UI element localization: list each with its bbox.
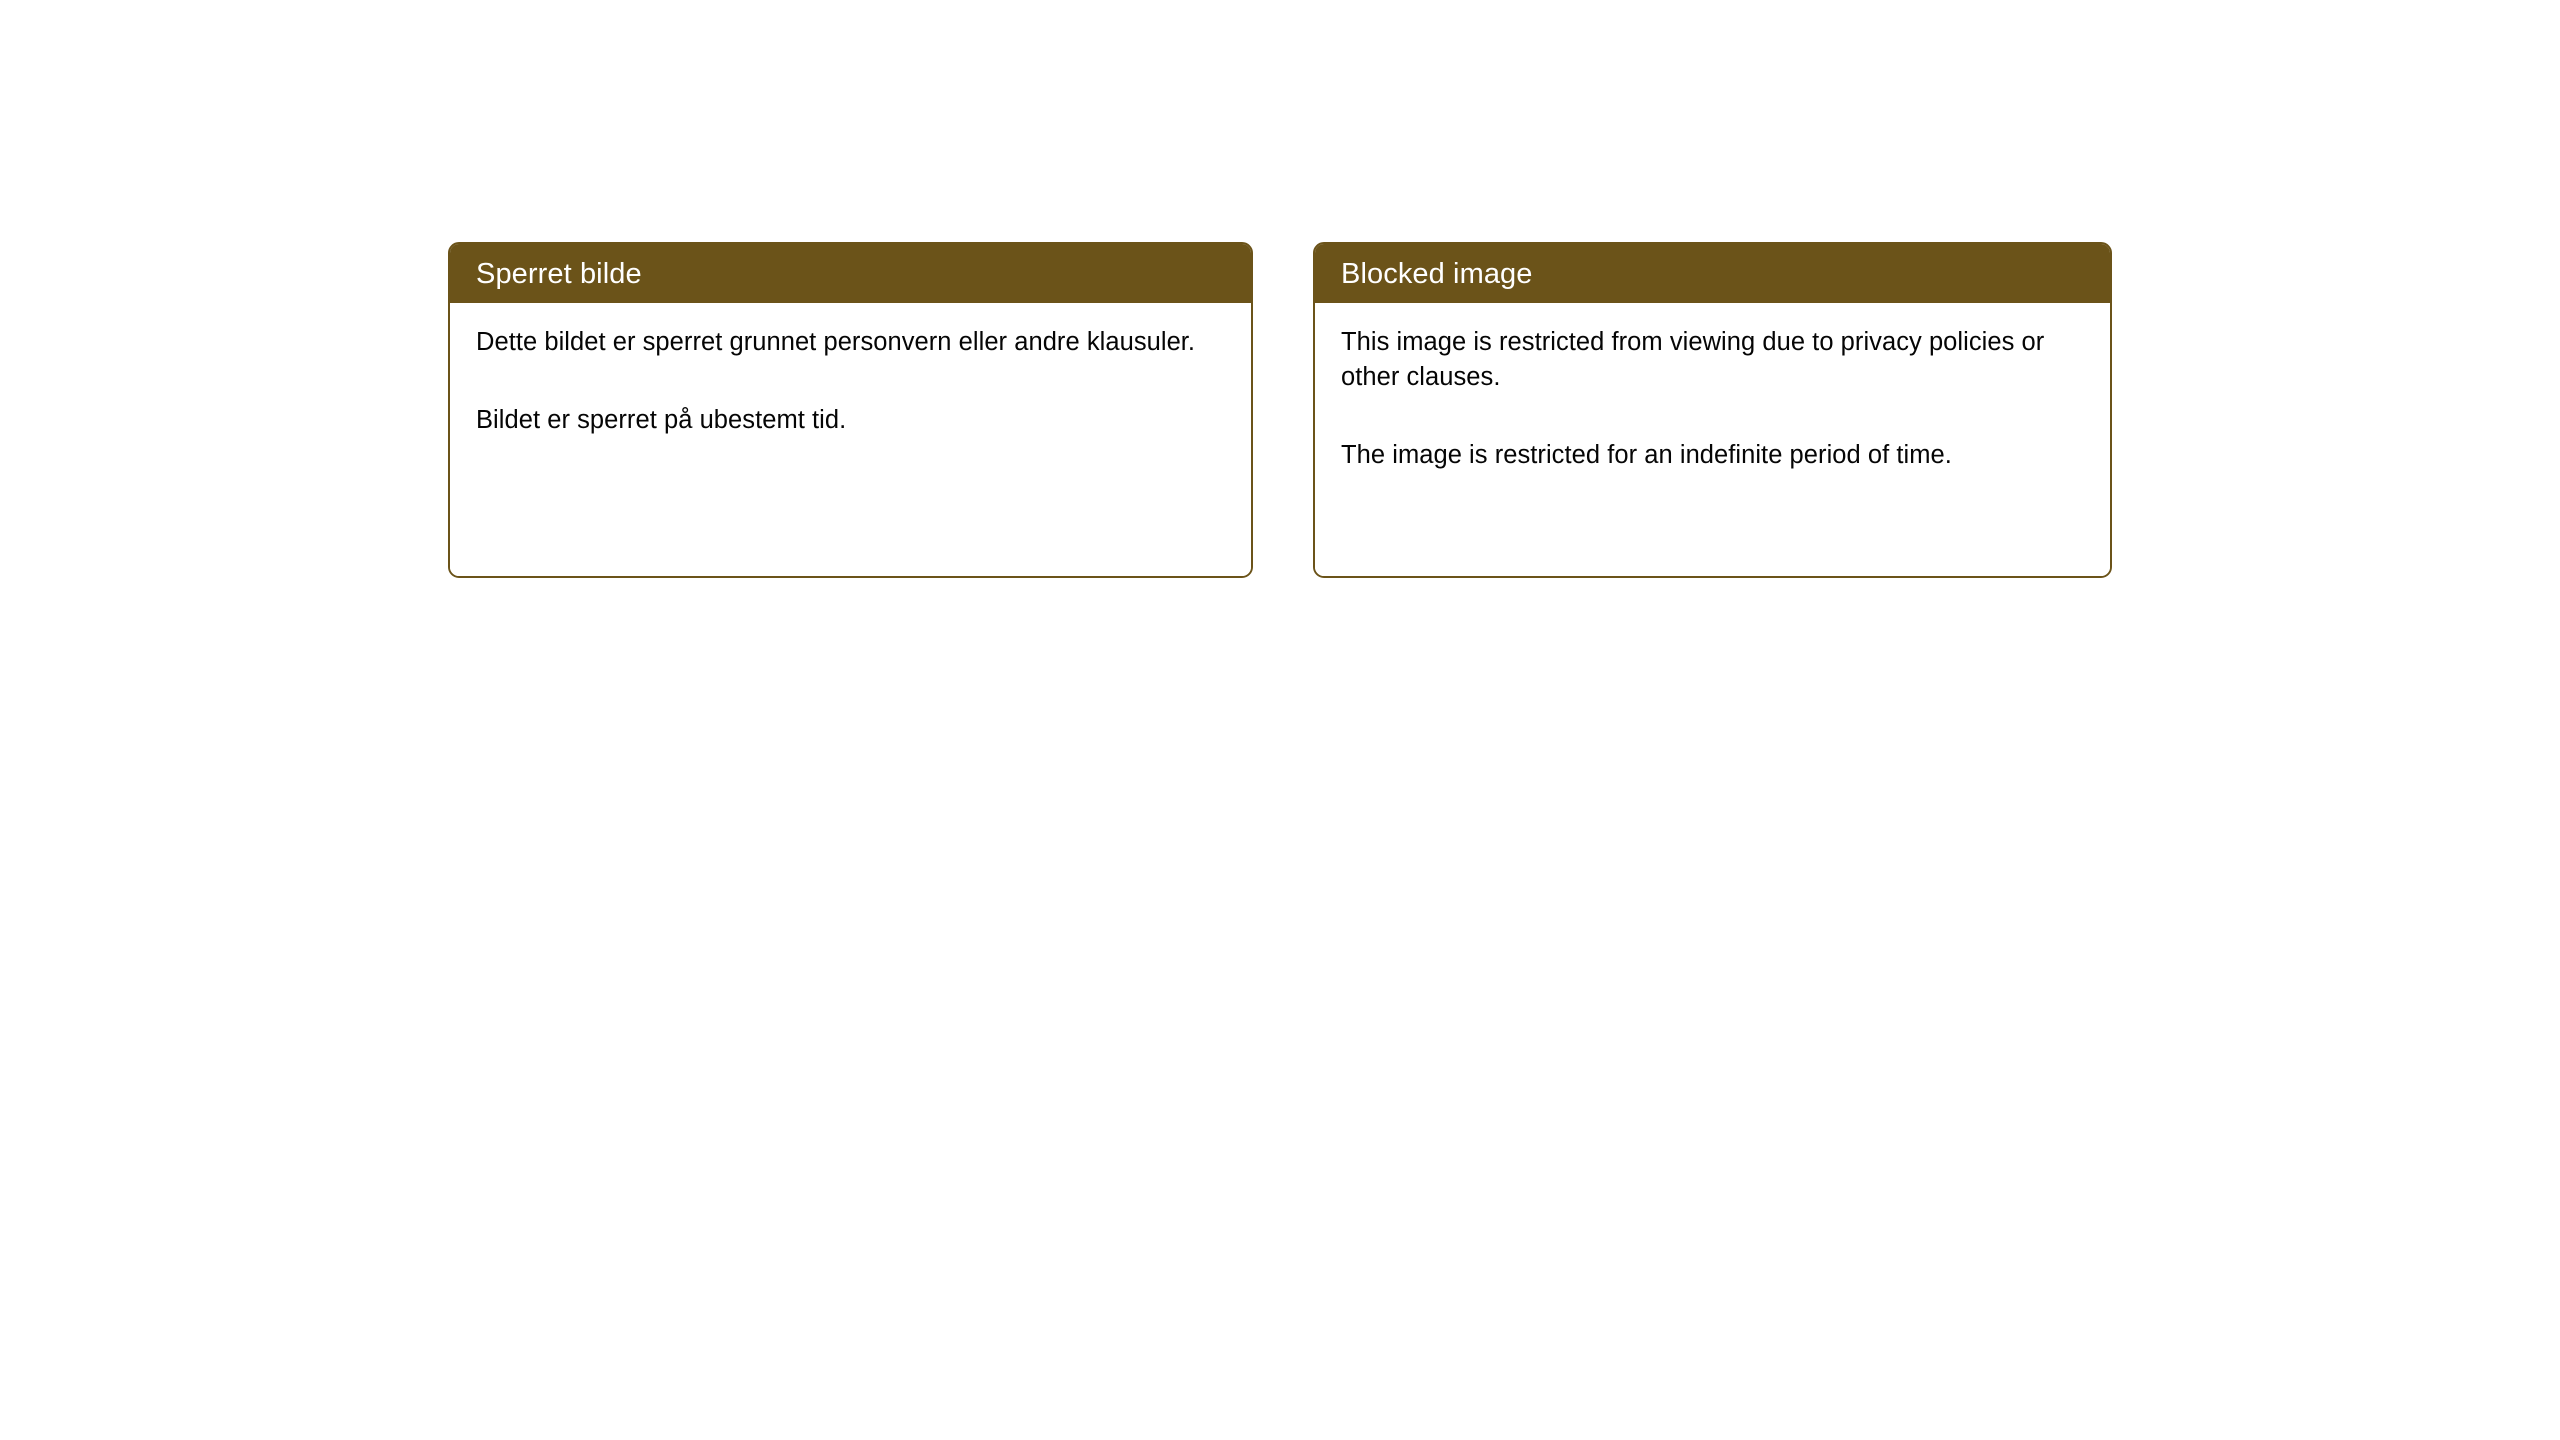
- blocked-image-card-norwegian: Sperret bilde Dette bildet er sperret gr…: [448, 242, 1253, 578]
- card-paragraph: Bildet er sperret på ubestemt tid.: [476, 403, 1231, 438]
- card-paragraph: The image is restricted for an indefinit…: [1341, 438, 2090, 473]
- card-title-english: Blocked image: [1341, 257, 1533, 291]
- card-paragraph: Dette bildet er sperret grunnet personve…: [476, 325, 1231, 360]
- card-header-english: Blocked image: [1315, 244, 2110, 303]
- blocked-image-card-english: Blocked image This image is restricted f…: [1313, 242, 2112, 578]
- card-header-norwegian: Sperret bilde: [450, 244, 1251, 303]
- card-body-norwegian: Dette bildet er sperret grunnet personve…: [450, 303, 1251, 576]
- blocked-image-notices: Sperret bilde Dette bildet er sperret gr…: [448, 242, 2112, 578]
- card-title-norwegian: Sperret bilde: [476, 257, 642, 291]
- card-paragraph: This image is restricted from viewing du…: [1341, 325, 2090, 395]
- card-body-english: This image is restricted from viewing du…: [1315, 303, 2110, 576]
